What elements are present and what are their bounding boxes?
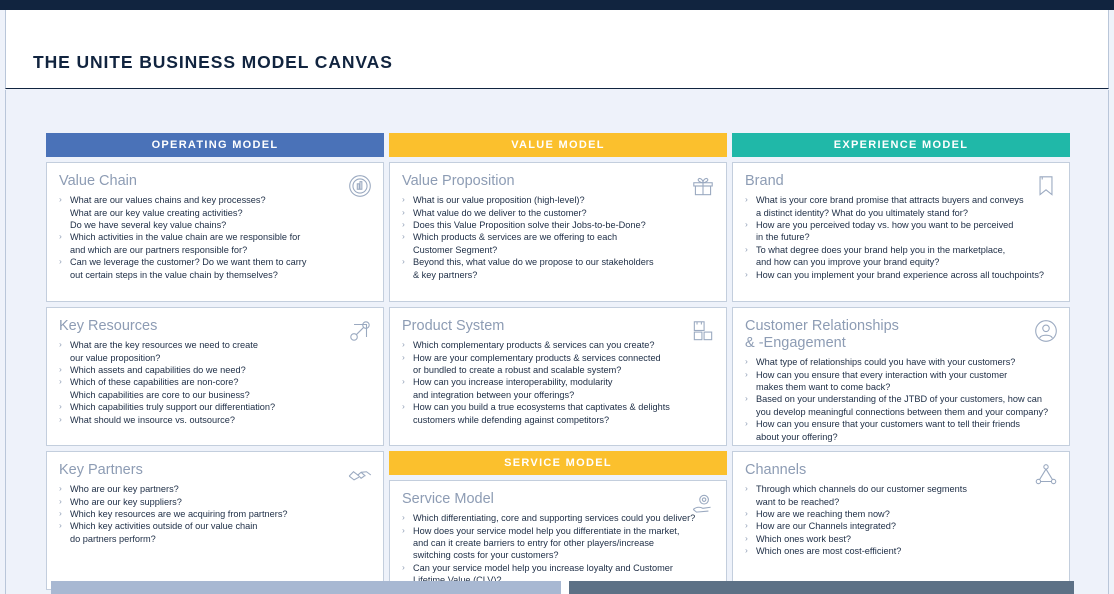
list-item: ›Beyond this, what value do we propose t… (402, 256, 714, 281)
list-item: ›Can we leverage the customer? Do we wan… (59, 256, 371, 281)
chevron-right-icon: › (745, 508, 748, 519)
list-item: ›What are our values chains and key proc… (59, 194, 371, 231)
list-item: ›What are the key resources we need to c… (59, 339, 371, 364)
chevron-right-icon: › (59, 231, 62, 242)
canvas-columns: OPERATING MODEL Value Chain ›What are ou… (46, 133, 1070, 594)
card-title-line1: Customer Relationships (745, 318, 899, 334)
chevron-right-icon: › (745, 483, 748, 494)
card-title-key-resources: Key Resources (59, 318, 371, 335)
list-item: ›Which ones work best? (745, 533, 1057, 545)
list-item: ›Which of these capabilities are non-cor… (59, 376, 371, 401)
question-list-channels: ›Through which channels do our customer … (745, 483, 1057, 558)
question-list-value-proposition: ›What is our value proposition (high-lev… (402, 194, 714, 281)
top-navy-strip (0, 0, 1114, 10)
page-title: THE UNITE BUSINESS MODEL CANVAS (6, 52, 393, 88)
chevron-right-icon: › (59, 194, 62, 205)
chevron-right-icon: › (402, 339, 405, 350)
column-experience-model: EXPERIENCE MODEL Brand ›What is your cor… (732, 133, 1070, 594)
card-title-value-proposition: Value Proposition (402, 173, 714, 190)
chevron-right-icon: › (745, 393, 748, 404)
list-item: ›What is your core brand promise that at… (745, 194, 1057, 219)
question-list-service-model: ›Which differentiating, core and support… (402, 512, 714, 587)
chevron-right-icon: › (745, 269, 748, 280)
chevron-right-icon: › (745, 418, 748, 429)
card-value-proposition[interactable]: Value Proposition ›What is our value pro… (389, 162, 727, 302)
chevron-right-icon: › (402, 194, 405, 205)
chevron-right-icon: › (402, 256, 405, 267)
chevron-right-icon: › (59, 364, 62, 375)
band-value-model: VALUE MODEL (389, 133, 727, 157)
chevron-right-icon: › (402, 207, 405, 218)
card-title-brand: Brand (745, 173, 1057, 190)
list-item: ›How are your complementary products & s… (402, 352, 714, 377)
list-item: ›How can you ensure that every interacti… (745, 369, 1057, 394)
canvas-page: THE UNITE BUSINESS MODEL CANVAS OPERATIN… (0, 0, 1114, 594)
list-item: ›Does this Value Proposition solve their… (402, 219, 714, 231)
chevron-right-icon: › (745, 194, 748, 205)
chevron-right-icon: › (402, 525, 405, 536)
list-item: ›Who are our key partners? (59, 483, 371, 495)
list-item: ›Which ones are most cost-efficient? (745, 545, 1057, 557)
card-key-partners[interactable]: Key Partners ›Who are our key partners? … (46, 451, 384, 590)
question-list-product-system: ›Which complementary products & services… (402, 339, 714, 426)
list-item: ›Which differentiating, core and support… (402, 512, 714, 524)
list-item: ›What should we insource vs. outsource? (59, 414, 371, 426)
chevron-right-icon: › (745, 219, 748, 230)
list-item: ›How are you perceived today vs. how you… (745, 219, 1057, 244)
chevron-right-icon: › (402, 231, 405, 242)
card-title-product-system: Product System (402, 318, 714, 335)
card-title-customer-relationships: Customer Relationships & -Engagement (745, 318, 1057, 352)
list-item: ›What value do we deliver to the custome… (402, 207, 714, 219)
chevron-right-icon: › (59, 376, 62, 387)
chevron-right-icon: › (59, 256, 62, 267)
bottom-bar-light (51, 581, 561, 594)
chevron-right-icon: › (745, 356, 748, 367)
card-title-value-chain: Value Chain (59, 173, 371, 190)
card-customer-relationships[interactable]: Customer Relationships & -Engagement ›Wh… (732, 307, 1070, 446)
chevron-right-icon: › (402, 376, 405, 387)
chevron-right-icon: › (745, 545, 748, 556)
card-channels[interactable]: Channels ›Through which channels do our … (732, 451, 1070, 590)
chevron-right-icon: › (402, 219, 405, 230)
list-item: ›How are we reaching them now? (745, 508, 1057, 520)
question-list-brand: ›What is your core brand promise that at… (745, 194, 1057, 281)
chevron-right-icon: › (59, 339, 62, 350)
list-item: ›Which products & services are we offeri… (402, 231, 714, 256)
card-title-line2: & -Engagement (745, 335, 1023, 352)
title-band: THE UNITE BUSINESS MODEL CANVAS (5, 10, 1109, 89)
list-item: ›What is our value proposition (high-lev… (402, 194, 714, 206)
list-item: ›Which complementary products & services… (402, 339, 714, 351)
list-item: ›How does your service model help you di… (402, 525, 714, 562)
card-key-resources[interactable]: Key Resources ›What are the key resource… (46, 307, 384, 446)
chevron-right-icon: › (402, 512, 405, 523)
list-item: ›How can you implement your brand experi… (745, 269, 1057, 281)
card-title-service-model: Service Model (402, 491, 714, 508)
list-item: ›How can you increase interoperability, … (402, 376, 714, 401)
list-item: ›Which assets and capabilities do we nee… (59, 364, 371, 376)
question-list-value-chain: ›What are our values chains and key proc… (59, 194, 371, 281)
question-list-customer-relationships: ›What type of relationships could you ha… (745, 356, 1057, 443)
list-item: ›How can you ensure that your customers … (745, 418, 1057, 443)
chevron-right-icon: › (745, 533, 748, 544)
chevron-right-icon: › (59, 520, 62, 531)
card-product-system[interactable]: Product System ›Which complementary prod… (389, 307, 727, 446)
card-value-chain[interactable]: Value Chain ›What are our values chains … (46, 162, 384, 302)
chevron-right-icon: › (59, 483, 62, 494)
list-item: ›To what degree does your brand help you… (745, 244, 1057, 269)
list-item: ›Based on your understanding of the JTBD… (745, 393, 1057, 418)
card-title-channels: Channels (745, 462, 1057, 479)
list-item: ›What type of relationships could you ha… (745, 356, 1057, 368)
list-item: ›Which capabilities truly support our di… (59, 401, 371, 413)
band-experience-model: EXPERIENCE MODEL (732, 133, 1070, 157)
list-item: ›Which key resources are we acquiring fr… (59, 508, 371, 520)
column-value-model: VALUE MODEL Value Proposition ›Wha (389, 133, 727, 594)
chevron-right-icon: › (402, 562, 405, 573)
card-service-model[interactable]: Service Model ›Which differentiating, co… (389, 480, 727, 594)
list-item: ›Which key activities outside of our val… (59, 520, 371, 545)
list-item: ›Through which channels do our customer … (745, 483, 1057, 508)
chevron-right-icon: › (59, 401, 62, 412)
question-list-key-partners: ›Who are our key partners? ›Who are our … (59, 483, 371, 545)
card-title-key-partners: Key Partners (59, 462, 371, 479)
band-operating-model: OPERATING MODEL (46, 133, 384, 157)
chevron-right-icon: › (745, 520, 748, 531)
card-brand[interactable]: Brand ›What is your core brand promise t… (732, 162, 1070, 302)
chevron-right-icon: › (402, 352, 405, 363)
list-item: ›Which activities in the value chain are… (59, 231, 371, 256)
chevron-right-icon: › (745, 369, 748, 380)
chevron-right-icon: › (745, 244, 748, 255)
chevron-right-icon: › (402, 401, 405, 412)
canvas-area: OPERATING MODEL Value Chain ›What are ou… (5, 90, 1109, 594)
band-service-model: SERVICE MODEL (389, 451, 727, 475)
chevron-right-icon: › (59, 508, 62, 519)
list-item: ›How are our Channels integrated? (745, 520, 1057, 532)
chevron-right-icon: › (59, 414, 62, 425)
bottom-bar-dark (569, 581, 1074, 594)
user-circle-icon (1033, 318, 1059, 344)
question-list-key-resources: ›What are the key resources we need to c… (59, 339, 371, 426)
chevron-right-icon: › (59, 496, 62, 507)
list-item: ›Who are our key suppliers? (59, 496, 371, 508)
column-operating-model: OPERATING MODEL Value Chain ›What are ou… (46, 133, 384, 594)
list-item: ›How can you build a true ecosystems tha… (402, 401, 714, 426)
